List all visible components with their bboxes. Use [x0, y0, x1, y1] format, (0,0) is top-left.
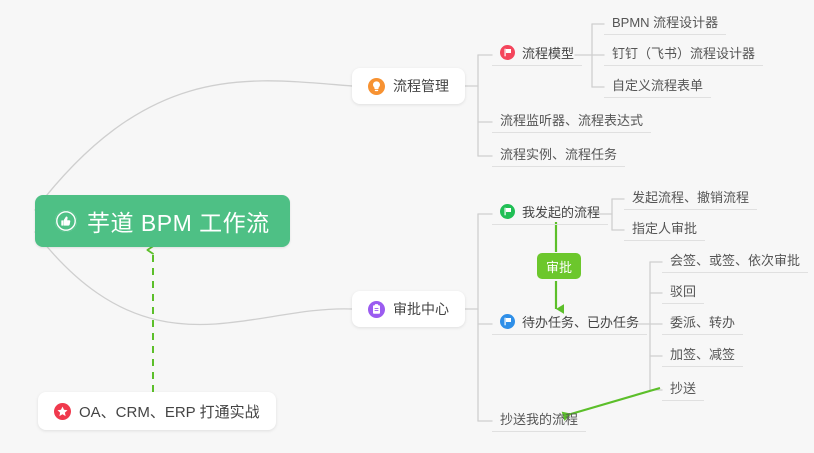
node-label: 自定义流程表单: [612, 75, 703, 94]
node-label: 抄送: [670, 378, 696, 397]
node-label: 流程模型: [522, 43, 574, 62]
node-my-initiated-process[interactable]: 我发起的流程: [492, 201, 608, 225]
thumbs-up-icon: [55, 210, 77, 232]
node-label: 我发起的流程: [522, 202, 600, 221]
node-process-instance-task[interactable]: 流程实例、流程任务: [492, 143, 625, 167]
node-start-cancel-process[interactable]: 发起流程、撤销流程: [624, 186, 757, 210]
node-cc-to-me-process[interactable]: 抄送我的流程: [492, 408, 586, 432]
node-custom-process-form[interactable]: 自定义流程表单: [604, 74, 711, 98]
node-label: 抄送我的流程: [500, 409, 578, 428]
flag-icon: [500, 314, 515, 329]
node-countersign-orsign-sequential[interactable]: 会签、或签、依次审批: [662, 249, 808, 273]
node-cc[interactable]: 抄送: [662, 377, 704, 401]
flag-icon: [500, 45, 515, 60]
node-label: 加签、减签: [670, 344, 735, 363]
lightbulb-icon: [368, 78, 385, 95]
node-label: 钉钉（飞书）流程设计器: [612, 43, 755, 62]
footnote-node[interactable]: OA、CRM、ERP 打通实战: [38, 392, 276, 430]
branch-label: 流程管理: [393, 76, 449, 96]
root-label: 芋道 BPM 工作流: [87, 204, 270, 238]
node-label: 流程监听器、流程表达式: [500, 110, 643, 129]
node-process-model[interactable]: 流程模型: [492, 42, 582, 66]
flag-icon: [500, 204, 515, 219]
node-label: 驳回: [670, 281, 696, 300]
node-label: 委派、转办: [670, 312, 735, 331]
node-label: 发起流程、撤销流程: [632, 187, 749, 206]
footnote-label: OA、CRM、ERP 打通实战: [79, 401, 260, 422]
node-reject[interactable]: 驳回: [662, 280, 704, 304]
node-todo-done-task[interactable]: 待办任务、已办任务: [492, 311, 647, 335]
node-delegate-transfer[interactable]: 委派、转办: [662, 311, 743, 335]
node-label: 流程实例、流程任务: [500, 144, 617, 163]
node-label: 会签、或签、依次审批: [670, 250, 800, 269]
node-label: 待办任务、已办任务: [522, 312, 639, 331]
root-node[interactable]: 芋道 BPM 工作流: [35, 195, 290, 247]
mindmap-canvas: 芋道 BPM 工作流 OA、CRM、ERP 打通实战 流程管理: [0, 0, 814, 453]
node-dingtalk-feishu-designer[interactable]: 钉钉（飞书）流程设计器: [604, 42, 763, 66]
node-label: 指定人审批: [632, 218, 697, 237]
branch-approval-center[interactable]: 审批中心: [352, 291, 465, 327]
node-bpmn-designer[interactable]: BPMN 流程设计器: [604, 11, 726, 35]
node-add-remove-sign[interactable]: 加签、减签: [662, 343, 743, 367]
node-designated-approver[interactable]: 指定人审批: [624, 217, 705, 241]
node-process-listener-expression[interactable]: 流程监听器、流程表达式: [492, 109, 651, 133]
branch-process-management[interactable]: 流程管理: [352, 68, 465, 104]
tag-approve[interactable]: 审批: [537, 253, 581, 279]
star-icon: [54, 403, 71, 420]
node-label: BPMN 流程设计器: [612, 12, 718, 31]
branch-label: 审批中心: [393, 299, 449, 319]
tag-label: 审批: [546, 257, 572, 276]
clipboard-icon: [368, 301, 385, 318]
